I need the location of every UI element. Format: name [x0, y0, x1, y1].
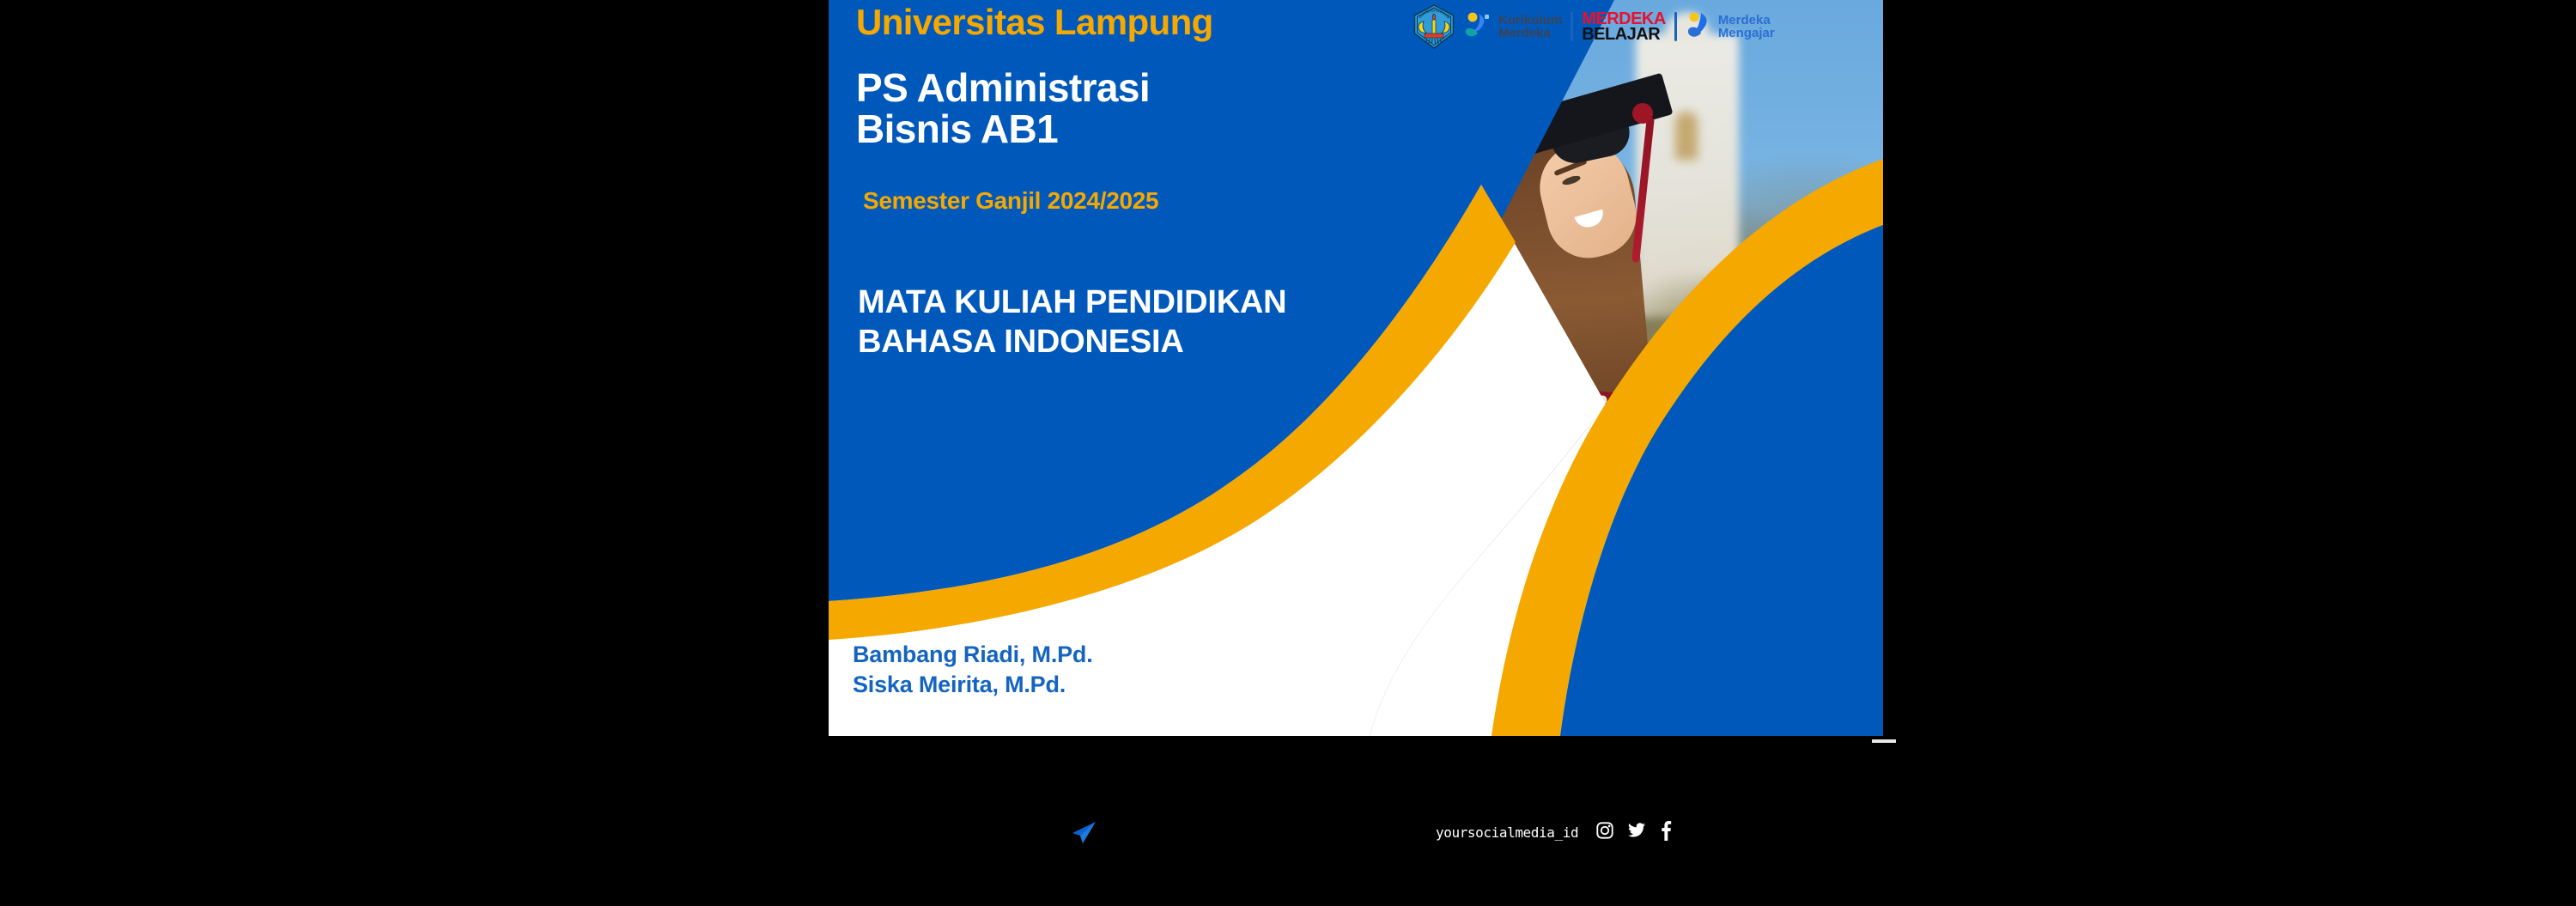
- kurikulum-merdeka-label: Kurikulum Merdeka: [1498, 14, 1562, 40]
- km-line-1: Kurikulum: [1498, 14, 1562, 27]
- program-line-2: Bisnis AB1: [856, 108, 1150, 149]
- social-handle: yoursocialmedia_id: [1436, 824, 1578, 841]
- semester-label: Semester Ganjil 2024/2025: [863, 187, 1158, 215]
- kurikulum-merdeka-logo: Kurikulum Merdeka: [1464, 11, 1562, 42]
- course-line-2: BAHASA INDONESIA: [858, 323, 1286, 362]
- facebook-icon[interactable]: [1659, 820, 1673, 845]
- merdeka-mengajar-logo: Merdeka Mengajar: [1686, 11, 1775, 42]
- mm-line-2: Mengajar: [1718, 27, 1775, 40]
- lace-sleeve: [1625, 423, 1728, 607]
- slide-edge-marker: [1872, 739, 1896, 743]
- logo-divider-1: [1571, 12, 1573, 41]
- kurikulum-merdeka-icon: [1464, 11, 1493, 42]
- twitter-icon[interactable]: [1626, 821, 1647, 844]
- unila-shield-icon: UNIVERSITAS LAMPUNG: [1413, 4, 1455, 49]
- tassel: [1631, 117, 1655, 263]
- merdeka-mengajar-label: Merdeka Mengajar: [1718, 14, 1775, 40]
- mm-line-1: Merdeka: [1718, 14, 1775, 27]
- logo-divider-2: [1674, 12, 1677, 41]
- course-line-1: MATA KULIAH PENDIDIKAN: [858, 283, 1286, 323]
- lecturer-names: Bambang Riadi, M.Pd. Siska Meirita, M.Pd…: [853, 640, 1093, 700]
- lecturer-name-1: Bambang Riadi, M.Pd.: [853, 640, 1093, 670]
- program-title: PS Administrasi Bisnis AB1: [856, 67, 1150, 150]
- km-line-2: Merdeka: [1498, 27, 1562, 40]
- logo-strip: UNIVERSITAS LAMPUNG Kurikulum Merdeka: [1413, 3, 1775, 50]
- instagram-icon[interactable]: [1595, 821, 1614, 844]
- merdeka-mengajar-icon: [1686, 11, 1713, 42]
- mb-line-2: BELAJAR: [1582, 27, 1666, 42]
- send-button[interactable]: [1069, 820, 1098, 850]
- course-title: MATA KULIAH PENDIDIKAN BAHASA INDONESIA: [858, 283, 1286, 362]
- paper-plane-icon: [1069, 820, 1098, 846]
- program-line-1: PS Administrasi: [856, 67, 1150, 108]
- social-bar: yoursocialmedia_id: [1436, 820, 1673, 845]
- tassel-knot: [1632, 103, 1653, 124]
- presentation-slide: Universitas Lampung PS Administrasi Bisn…: [829, 0, 1883, 736]
- screen-canvas: Universitas Lampung PS Administrasi Bisn…: [0, 0, 2576, 906]
- lecturer-name-2: Siska Meirita, M.Pd.: [853, 670, 1093, 700]
- university-title: Universitas Lampung: [856, 2, 1213, 43]
- merdeka-belajar-logo: MERDEKA BELAJAR: [1582, 11, 1666, 43]
